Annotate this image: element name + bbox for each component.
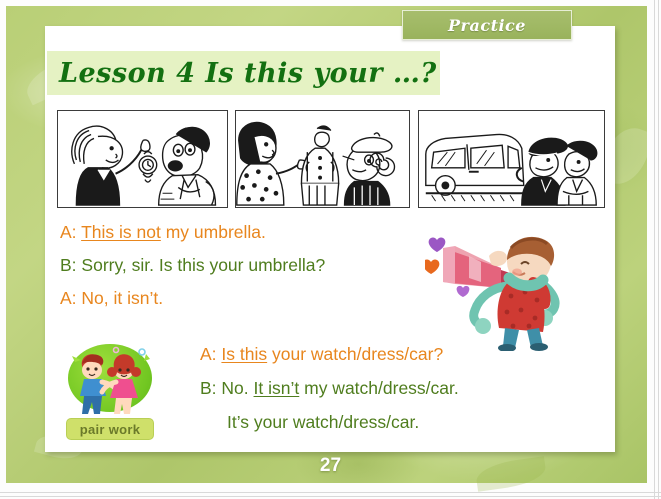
- speaker-label: A:: [60, 222, 77, 242]
- pair-work-label: pair work: [66, 418, 154, 440]
- slide-root: Practice Lesson 4 Is this your …?: [0, 0, 661, 499]
- frame-line: [0, 492, 661, 493]
- underlined-phrase: This is not: [81, 222, 161, 242]
- line-text: It’s your watch/dress/car.: [227, 412, 419, 432]
- line-prefix: No.: [221, 378, 253, 398]
- underlined-phrase: It isn’t: [254, 378, 300, 398]
- comic-strip: [57, 110, 605, 208]
- pair-work-badge: pair work: [58, 344, 162, 440]
- lesson-title-band: Lesson 4 Is this your …?: [47, 51, 440, 95]
- dialogue-line: A: This is not my umbrella.: [60, 216, 440, 249]
- megaphone-boy-illustration: [425, 226, 575, 351]
- page-title: Lesson 4 Is this your …?: [47, 58, 437, 89]
- comic-panel-car: [418, 110, 605, 208]
- speaker-label: B:: [200, 378, 217, 398]
- practice-banner-label: Practice: [448, 16, 526, 35]
- speaker-label: B:: [60, 255, 77, 275]
- dialogue-bottom: A: Is this your watch/dress/car? B: No. …: [200, 337, 590, 439]
- comic-panel-dress: [235, 110, 410, 208]
- dialogue-line: It’s your watch/dress/car.: [200, 405, 590, 439]
- frame-line: [654, 0, 655, 499]
- comic-panel-watch: [57, 110, 228, 208]
- frame-line: [0, 496, 661, 497]
- speaker-label: A:: [60, 288, 77, 308]
- line-text: my watch/dress/car.: [299, 378, 459, 398]
- dialogue-top: A: This is not my umbrella. B: Sorry, si…: [60, 216, 440, 315]
- frame-line: [658, 0, 659, 499]
- line-text: Sorry, sir. Is this your umbrella?: [81, 255, 325, 275]
- pair-work-kids-icon: [58, 344, 162, 420]
- dialogue-line: A: No, it isn’t.: [60, 282, 440, 315]
- dialogue-line: B: Sorry, sir. Is this your umbrella?: [60, 249, 440, 282]
- line-text: No, it isn’t.: [81, 288, 163, 308]
- practice-banner: Practice: [402, 10, 572, 40]
- underlined-phrase: Is this: [221, 344, 267, 364]
- page-number: 27: [0, 455, 661, 477]
- line-text: your watch/dress/car?: [267, 344, 443, 364]
- speaker-label: A:: [200, 344, 217, 364]
- line-text: my umbrella.: [161, 222, 266, 242]
- dialogue-line: B: No. It isn’t my watch/dress/car.: [200, 371, 590, 405]
